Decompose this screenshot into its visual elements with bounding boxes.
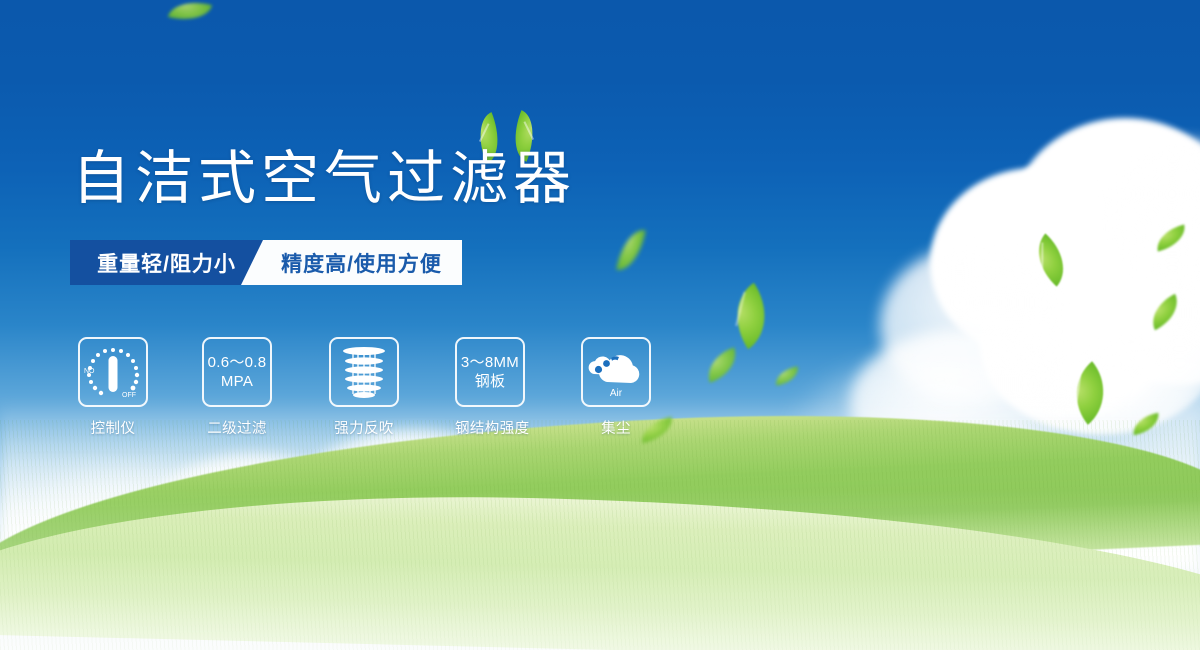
air-cloud-icon: Air [581,337,651,407]
feature-item-dust-collection[interactable]: Air 集尘 [581,337,651,438]
feature-label: 二级过滤 [202,417,272,438]
feature-item-controller[interactable]: NO OFF 控制仪 [78,337,148,438]
subtitle-bar: 重量轻/阻力小 精度高/使用方便 [70,240,462,285]
filter-coil-glyph [339,344,389,400]
dial-gauge-icon: NO OFF [78,337,148,407]
leaf-icon [616,226,645,273]
product-hero-banner: 自洁式空气过滤器 重量轻/阻力小 精度高/使用方便 [0,0,1200,650]
dial-off-label: OFF [122,392,136,399]
air-cloud-glyph: Air [587,344,645,400]
leaf-icon [719,283,783,350]
feature-label: 控制仪 [78,417,148,438]
steel-plate-text: 钢板 [475,372,506,391]
leaf-icon [1024,233,1078,286]
leaf-icon [702,347,742,382]
leaf-icon [774,366,800,385]
steel-thickness-text: 3〜8MM [461,353,519,372]
pressure-unit-text: MPA [221,372,253,391]
feature-item-two-stage-filter[interactable]: 0.6〜0.8 MPA 二级过滤 [202,337,272,438]
dial-gauge-glyph: NO OFF [82,343,144,401]
pressure-value-icon: 0.6〜0.8 MPA [202,337,272,407]
leaf-icon [1153,224,1189,251]
pressure-range-text: 0.6〜0.8 [208,353,267,372]
grass-sheen [0,490,1200,650]
grass-field [0,420,1200,650]
air-label: Air [610,388,623,399]
dial-no-label: NO [84,368,95,375]
feature-label: 钢结构强度 [455,417,530,438]
subtitle-segment-right: 精度高/使用方便 [241,240,462,285]
leaf-icon [1144,294,1185,330]
filter-coil-icon [329,337,399,407]
steel-plate-icon: 3〜8MM 钢板 [455,337,525,407]
feature-item-steel-structure[interactable]: 3〜8MM 钢板 钢结构强度 [455,337,530,438]
feature-label: 强力反吹 [329,417,399,438]
subtitle-segment-left: 重量轻/阻力小 [70,240,263,285]
feature-label: 集尘 [581,417,651,438]
feature-item-strong-backblow[interactable]: 强力反吹 [329,337,399,438]
page-title: 自洁式空气过滤器 [72,148,576,210]
leaf-icon [168,0,212,27]
